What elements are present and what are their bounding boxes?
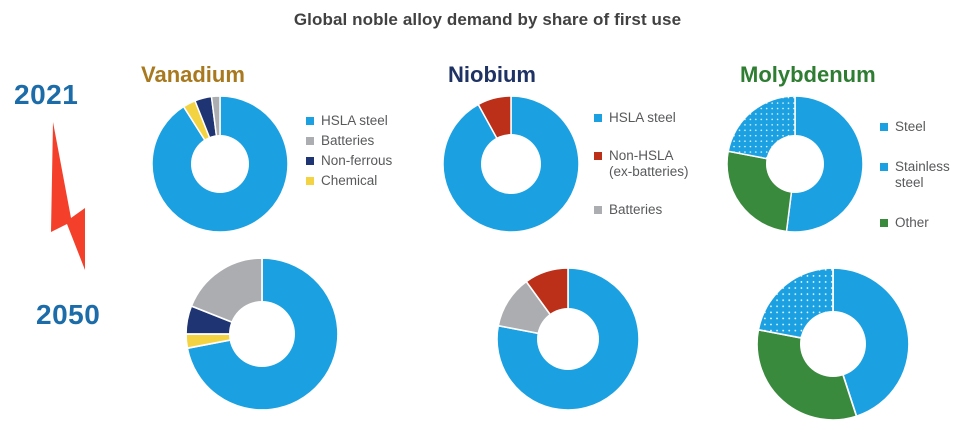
donut-molybdenum-2050 bbox=[757, 268, 909, 420]
donut-hole bbox=[800, 311, 866, 377]
legend-item[interactable]: Other bbox=[880, 215, 950, 231]
donut-hole bbox=[229, 301, 295, 367]
legend-molybdenum: SteelStainless steelOther bbox=[880, 119, 950, 255]
legend-item[interactable]: Non-ferrous bbox=[306, 153, 392, 169]
donut-hole bbox=[191, 135, 249, 193]
legend-item[interactable]: Stainless steel bbox=[880, 159, 950, 191]
column-heading-vanadium: Vanadium bbox=[141, 62, 245, 88]
legend-swatch-icon bbox=[594, 206, 602, 214]
legend-item-label: Non-ferrous bbox=[321, 153, 392, 169]
legend-item[interactable]: HSLA steel bbox=[306, 113, 392, 129]
donut-hole bbox=[537, 308, 599, 370]
legend-swatch-icon bbox=[594, 114, 602, 122]
legend-item[interactable]: Non-HSLA (ex-batteries) bbox=[594, 148, 689, 180]
legend-swatch-icon bbox=[880, 123, 888, 131]
donut-hole bbox=[481, 134, 541, 194]
column-heading-molybdenum: Molybdenum bbox=[740, 62, 876, 88]
donut-molybdenum-2021 bbox=[727, 96, 863, 232]
year-label-end: 2050 bbox=[36, 299, 100, 331]
legend-item[interactable]: Steel bbox=[880, 119, 950, 135]
year-label-start: 2021 bbox=[14, 79, 78, 111]
legend-item-label: Stainless steel bbox=[895, 159, 950, 191]
legend-item[interactable]: HSLA steel bbox=[594, 110, 689, 126]
legend-niobium: HSLA steelNon-HSLA (ex-batteries)Batteri… bbox=[594, 110, 689, 240]
legend-swatch-icon bbox=[306, 137, 314, 145]
legend-swatch-icon bbox=[306, 157, 314, 165]
legend-item[interactable]: Chemical bbox=[306, 173, 392, 189]
legend-item-label: HSLA steel bbox=[321, 113, 388, 129]
page-title: Global noble alloy demand by share of fi… bbox=[0, 10, 975, 30]
legend-item-label: HSLA steel bbox=[609, 110, 676, 126]
legend-item-label: Non-HSLA (ex-batteries) bbox=[609, 148, 689, 180]
legend-swatch-icon bbox=[306, 117, 314, 125]
donut-niobium-2021 bbox=[443, 96, 579, 232]
legend-swatch-icon bbox=[306, 177, 314, 185]
legend-item-label: Chemical bbox=[321, 173, 377, 189]
legend-item-label: Batteries bbox=[609, 202, 662, 218]
donut-vanadium-2050 bbox=[186, 258, 338, 410]
legend-swatch-icon bbox=[880, 219, 888, 227]
legend-item[interactable]: Batteries bbox=[594, 202, 689, 218]
legend-swatch-icon bbox=[880, 163, 888, 171]
legend-item-label: Steel bbox=[895, 119, 926, 135]
legend-item-label: Other bbox=[895, 215, 929, 231]
timeline-arrow-icon bbox=[45, 120, 115, 285]
column-heading-niobium: Niobium bbox=[448, 62, 536, 88]
donut-vanadium-2021 bbox=[152, 96, 288, 232]
legend-swatch-icon bbox=[594, 152, 602, 160]
donut-hole bbox=[766, 135, 824, 193]
legend-vanadium: HSLA steelBatteriesNon-ferrousChemical bbox=[306, 113, 392, 193]
donut-niobium-2050 bbox=[497, 268, 639, 410]
legend-item[interactable]: Batteries bbox=[306, 133, 392, 149]
legend-item-label: Batteries bbox=[321, 133, 374, 149]
